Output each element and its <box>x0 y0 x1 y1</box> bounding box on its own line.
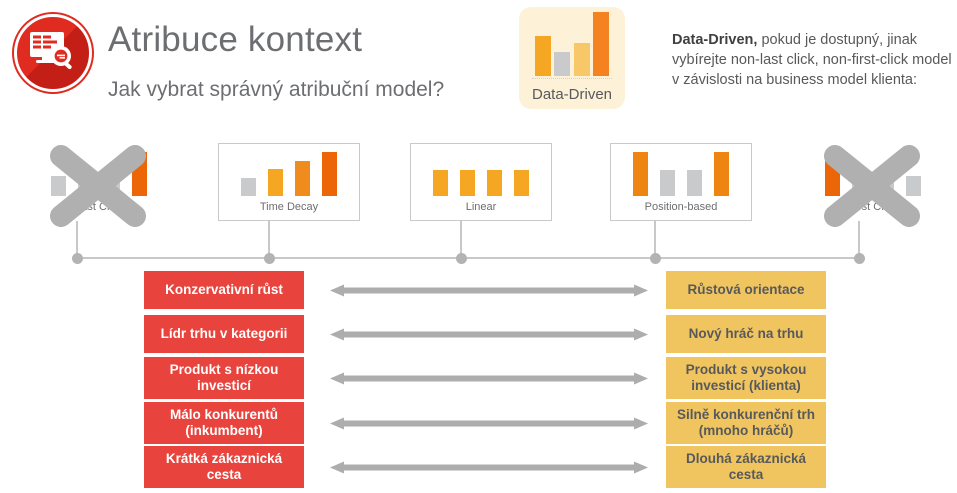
model-bar-3 <box>879 172 894 196</box>
model-bar-3 <box>487 170 502 196</box>
model-bar-1 <box>51 176 66 196</box>
spectrum-arrow-1 <box>330 284 648 297</box>
model-bar-4 <box>714 152 729 196</box>
model-bar-2 <box>852 176 867 196</box>
model-bar-1 <box>241 178 256 196</box>
data-driven-card[interactable]: Data-Driven <box>519 7 625 109</box>
model-bar-1 <box>825 152 840 196</box>
model-card-label: Position-based <box>611 201 751 213</box>
model-bar-2 <box>268 169 283 196</box>
model-bar-chart <box>433 152 529 196</box>
timeline-stem <box>76 218 78 258</box>
model-bar-2 <box>78 172 93 196</box>
spectrum-arrow-3 <box>330 372 648 385</box>
model-bar-1 <box>433 170 448 196</box>
model-bar-4 <box>514 170 529 196</box>
model-card-position-based[interactable]: Position-based <box>610 143 752 221</box>
bar-chart-icon <box>535 12 609 76</box>
model-card-label: Time Decay <box>219 201 359 213</box>
model-card-label: First Click <box>803 201 943 213</box>
data-driven-bar-2 <box>554 52 570 76</box>
factor-left-5[interactable]: Krátká zákaznická cesta <box>144 446 304 488</box>
factor-left-4[interactable]: Málo konkurentů (inkumbent) <box>144 402 304 444</box>
model-card-last-click[interactable]: Last Click <box>28 143 170 221</box>
model-bar-chart <box>633 152 729 196</box>
factor-left-3[interactable]: Produkt s nízkou investicí <box>144 357 304 399</box>
model-bar-3 <box>295 161 310 196</box>
factor-right-4[interactable]: Silně konkurenční trh (mnoho hráčů) <box>666 402 826 444</box>
factor-right-3[interactable]: Produkt s vysokou investicí (klienta) <box>666 357 826 399</box>
data-driven-bar-1 <box>535 36 551 76</box>
timeline-dot <box>854 253 865 264</box>
model-bar-4 <box>132 152 147 196</box>
timeline-dot <box>72 253 83 264</box>
model-card-linear[interactable]: Linear <box>410 143 552 221</box>
model-bar-chart <box>241 152 337 196</box>
spectrum-arrow-5 <box>330 461 648 474</box>
model-bar-3 <box>105 176 120 196</box>
factor-right-1[interactable]: Růstová orientace <box>666 271 826 309</box>
intro-lead: Data-Driven, <box>672 32 757 48</box>
intro-paragraph: Data-Driven, pokud je dostupný, jinak vy… <box>672 30 952 90</box>
timeline-axis <box>76 257 862 259</box>
model-card-label: Linear <box>411 201 551 213</box>
data-driven-label: Data-Driven <box>519 86 625 103</box>
spectrum-arrow-2 <box>330 328 648 341</box>
timeline-dot <box>456 253 467 264</box>
timeline-stem <box>268 218 270 258</box>
factor-left-2[interactable]: Lídr trhu v kategorii <box>144 315 304 353</box>
timeline-stem <box>654 218 656 258</box>
timeline-dot <box>264 253 275 264</box>
timeline-dot <box>650 253 661 264</box>
factor-right-2[interactable]: Nový hráč na trhu <box>666 315 826 353</box>
factor-left-1[interactable]: Konzervativní růst <box>144 271 304 309</box>
model-bar-chart <box>825 152 921 196</box>
model-card-time-decay[interactable]: Time Decay <box>218 143 360 221</box>
model-bar-1 <box>633 152 648 196</box>
model-bar-chart <box>51 152 147 196</box>
model-bar-3 <box>687 170 702 196</box>
data-driven-bar-3 <box>574 43 590 76</box>
model-bar-4 <box>322 152 337 196</box>
factor-right-5[interactable]: Dlouhá zákaznická cesta <box>666 446 826 488</box>
card-baseline <box>532 78 612 79</box>
data-driven-bar-4 <box>593 12 609 76</box>
timeline-stem <box>858 218 860 258</box>
page-title: Atribuce kontext <box>108 20 362 60</box>
brand-logo <box>14 14 92 92</box>
timeline-stem <box>460 218 462 258</box>
model-bar-4 <box>906 176 921 196</box>
model-bar-2 <box>460 170 475 196</box>
page-subtitle: Jak vybrat správný atribuční model? <box>108 78 444 102</box>
model-bar-2 <box>660 170 675 196</box>
model-card-first-click[interactable]: First Click <box>802 143 944 221</box>
model-card-label: Last Click <box>29 201 169 213</box>
spectrum-arrow-4 <box>330 417 648 430</box>
